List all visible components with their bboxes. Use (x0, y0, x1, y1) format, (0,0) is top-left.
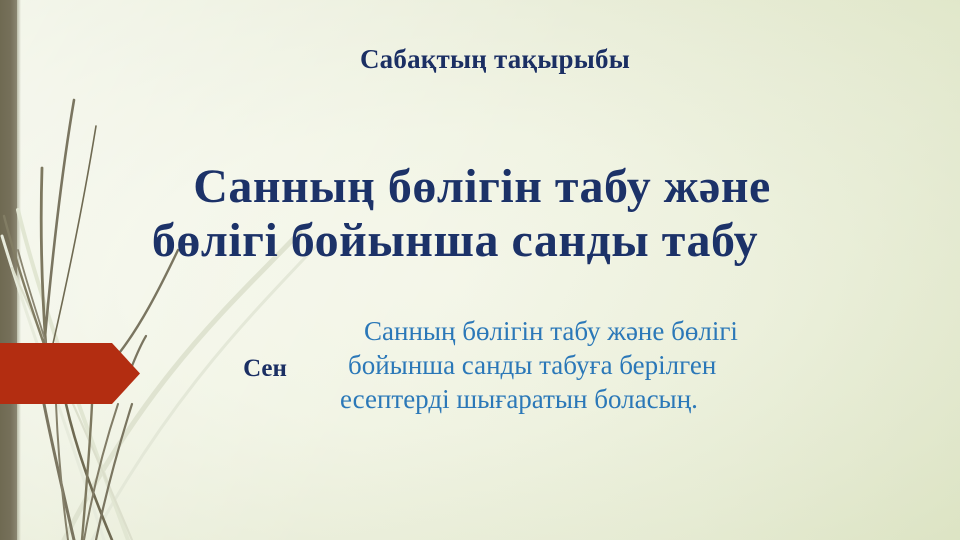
slide-canvas: Сабақтың тақырыбы Санның бөлігін табу жә… (0, 0, 960, 540)
objective-line-1: Санның бөлігін табу және бөлігі (340, 314, 830, 348)
objective-paragraph: Санның бөлігін табу және бөлігі бойынша … (340, 314, 830, 416)
objective-line-3: есептерді шығаратын боласың. (340, 382, 830, 416)
red-arrow-banner (0, 343, 140, 404)
slide-heading: Сабақтың тақырыбы (0, 44, 960, 75)
page-title: Санның бөлігін табу және бөлігі бойынша … (30, 160, 890, 268)
slide-heading-text: Сабақтың тақырыбы (360, 44, 630, 75)
page-title-line-1: Санның бөлігін табу және (52, 160, 912, 214)
grass-reeds-decoration (0, 0, 320, 540)
page-title-line-2: бөлігі бойынша санды табу (25, 214, 885, 268)
sen-label: Сен (205, 355, 325, 383)
objective-line-2: бойынша санды табуға берілген (340, 348, 830, 382)
